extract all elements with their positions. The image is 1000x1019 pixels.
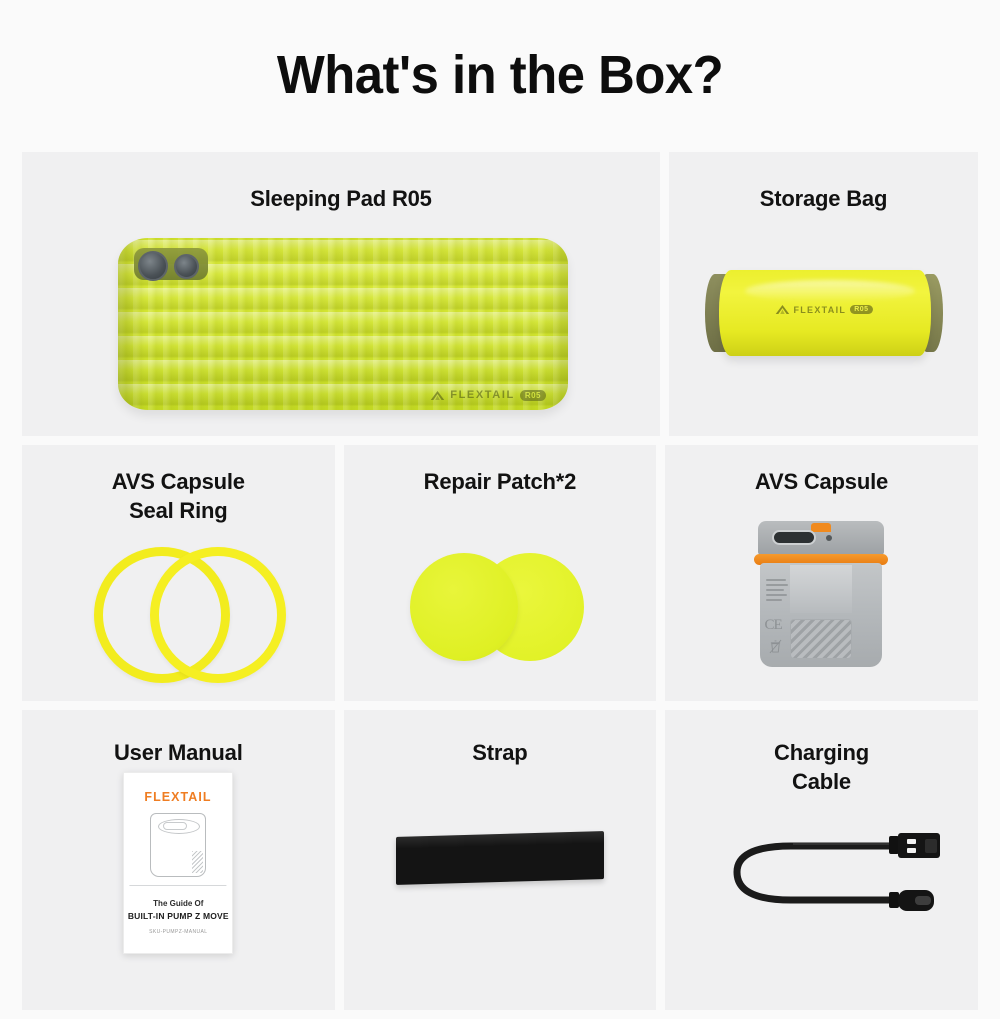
led-indicator-icon bbox=[826, 535, 832, 541]
panel-avs-capsule[interactable]: AVS Capsule bbox=[665, 445, 978, 701]
strap-image bbox=[344, 820, 657, 940]
manual-title-line2: BUILT-IN PUMP Z MOVE bbox=[124, 911, 232, 921]
capsule-top-cap bbox=[758, 521, 884, 555]
panel-seal-ring[interactable]: AVS Capsule Seal Ring bbox=[22, 445, 335, 701]
avs-capsule-body: CE bbox=[754, 511, 888, 669]
flextail-mark-icon bbox=[430, 390, 445, 401]
cable-label-line1: Charging bbox=[774, 740, 869, 765]
panel-user-manual[interactable]: User Manual FLEXTAIL The Guide Of BUILT-… bbox=[22, 710, 335, 1010]
avs-capsule-image: CE bbox=[665, 505, 978, 705]
cable-drawing bbox=[701, 810, 941, 940]
manual-brand-text: FLEXTAIL bbox=[126, 789, 230, 804]
panel-label-sleeping-pad: Sleeping Pad R05 bbox=[22, 184, 660, 213]
pad-brand-text: FLEXTAIL bbox=[450, 389, 515, 401]
panel-label-repair-patch: Repair Patch*2 bbox=[344, 467, 657, 496]
sleeping-pad-body: FLEXTAIL R05 bbox=[118, 238, 568, 410]
ce-mark-icon: CE bbox=[764, 617, 781, 634]
grid-row-2: AVS Capsule Seal Ring Repair Patch*2 AVS… bbox=[22, 445, 978, 701]
panel-label-user-manual: User Manual bbox=[22, 738, 335, 767]
capsule-orange-tab bbox=[811, 523, 831, 532]
deflation-valve-icon bbox=[174, 254, 199, 279]
manual-code-text: SKU-PUMPZ-MANUAL bbox=[124, 929, 232, 935]
charging-cable-image bbox=[665, 810, 978, 960]
bag-model-badge: R05 bbox=[850, 305, 872, 314]
capsule-lower-body: CE bbox=[760, 563, 882, 667]
capsule-spec-text bbox=[766, 579, 788, 604]
storage-bag-image: FLEXTAIL R05 bbox=[669, 252, 978, 402]
pad-model-badge: R05 bbox=[520, 390, 546, 401]
capsule-vent-grille bbox=[790, 619, 852, 659]
panel-sleeping-pad[interactable]: Sleeping Pad R05 bbox=[22, 152, 660, 436]
repair-patch-image bbox=[344, 541, 657, 691]
seal-ring-image bbox=[22, 541, 335, 691]
page-title: What's in the Box? bbox=[30, 44, 970, 106]
items-grid: Sleeping Pad R05 bbox=[22, 152, 978, 1019]
weee-bin-icon bbox=[769, 639, 782, 654]
strap-body bbox=[396, 831, 604, 885]
grid-row-1: Sleeping Pad R05 bbox=[22, 152, 978, 436]
panel-label-charging-cable: Charging Cable bbox=[665, 738, 978, 796]
flextail-mark-icon bbox=[774, 304, 789, 315]
bag-brand-logo: FLEXTAIL R05 bbox=[774, 304, 872, 315]
panel-strap[interactable]: Strap bbox=[344, 710, 657, 1010]
user-manual-image: FLEXTAIL The Guide Of BUILT-IN PUMP Z MO… bbox=[22, 772, 335, 1002]
repair-patch-1 bbox=[410, 553, 518, 661]
panel-storage-bag[interactable]: Storage Bag FLEXTAIL R05 bbox=[669, 152, 978, 436]
storage-bag-body: FLEXTAIL R05 bbox=[705, 270, 943, 356]
sleeping-pad-image: FLEXTAIL R05 bbox=[22, 230, 660, 420]
panel-label-strap: Strap bbox=[344, 738, 657, 767]
panel-charging-cable[interactable]: Charging Cable bbox=[665, 710, 978, 1010]
manual-title-line1: The Guide Of bbox=[124, 899, 232, 908]
grid-row-3: User Manual FLEXTAIL The Guide Of BUILT-… bbox=[22, 710, 978, 1010]
cable-label-line2: Cable bbox=[792, 769, 851, 794]
panel-label-seal-ring: AVS Capsule Seal Ring bbox=[22, 467, 335, 525]
inflation-valve-icon bbox=[138, 251, 168, 281]
manual-cover: FLEXTAIL The Guide Of BUILT-IN PUMP Z MO… bbox=[123, 772, 233, 954]
panel-label-avs-capsule: AVS Capsule bbox=[665, 467, 978, 496]
usb-c-port-icon bbox=[772, 530, 816, 545]
panel-label-storage-bag: Storage Bag bbox=[669, 184, 978, 213]
seal-ring-label-line1: AVS Capsule bbox=[112, 469, 245, 494]
seal-ring-2 bbox=[150, 547, 286, 683]
panel-repair-patch[interactable]: Repair Patch*2 bbox=[344, 445, 657, 701]
bag-brand-text: FLEXTAIL bbox=[793, 305, 846, 315]
manual-device-illustration bbox=[150, 813, 206, 877]
seal-ring-label-line2: Seal Ring bbox=[129, 498, 227, 523]
pad-brand-logo: FLEXTAIL R05 bbox=[430, 389, 546, 401]
